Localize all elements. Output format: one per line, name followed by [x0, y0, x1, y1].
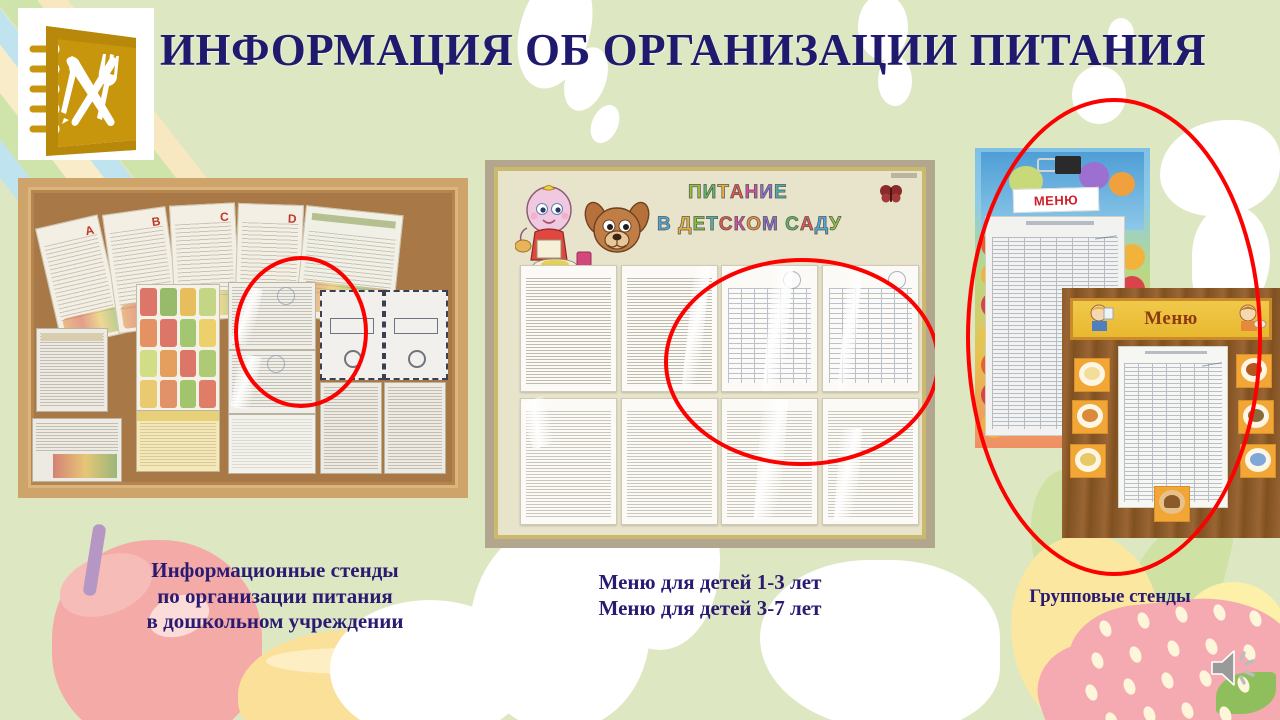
cartoon-dog-icon [583, 196, 653, 272]
caption-line: по организации питания [60, 584, 490, 610]
table-document [384, 382, 446, 474]
certificate-document [384, 290, 448, 380]
document-header [41, 333, 103, 341]
stand-title-line2: В ДЕТСКОМ САДУ [657, 214, 842, 236]
stand-document [520, 265, 617, 392]
food-cell [160, 319, 177, 347]
board-corner-label [891, 173, 917, 178]
dish-food [1250, 453, 1266, 466]
photo-menu-stand[interactable]: ПИТАНИЕ В ДЕТСКОМ САДУ [485, 160, 935, 548]
food-cell [140, 350, 157, 378]
document-text-lines [40, 333, 104, 407]
food-cell [180, 288, 197, 316]
info-document [36, 328, 108, 412]
food-cell [199, 319, 216, 347]
food-cell [140, 288, 157, 316]
red-highlight-ellipse [234, 256, 368, 408]
notice-document [228, 414, 316, 474]
document-text-lines [388, 387, 442, 469]
caption-line: Меню для детей 1-3 лет [500, 570, 920, 596]
useful-products-poster [136, 410, 220, 472]
food-cell [199, 380, 216, 408]
food-cell [160, 380, 177, 408]
caption-line: Меню для детей 3-7 лет [500, 596, 920, 622]
caption-line: в дошкольном учреждении [60, 609, 490, 635]
food-chart-grid [140, 288, 216, 408]
food-cell [160, 350, 177, 378]
stand-document [520, 398, 617, 525]
red-highlight-ellipse-group-stands [966, 98, 1262, 576]
speaker-audio-icon[interactable] [1208, 645, 1260, 691]
recipe-book-cutlery-icon [18, 8, 154, 160]
document-photo [53, 454, 117, 478]
food-chart-poster [136, 284, 220, 412]
food-cell [160, 288, 177, 316]
food-cell [180, 350, 197, 378]
poster-text-lines [140, 423, 216, 467]
photo-info-stands[interactable]: A B C D [18, 178, 468, 498]
seal-icon [408, 350, 426, 368]
document-text-lines [36, 423, 118, 453]
page-title: ИНФОРМАЦИЯ ОБ ОРГАНИЗАЦИИ ПИТАНИЯ [160, 24, 1270, 76]
butterfly-icon [879, 184, 903, 204]
document-text-lines [232, 419, 312, 469]
food-cell [180, 319, 197, 347]
caption-line: Информационные стенды [60, 558, 490, 584]
presentation-slide: ИНФОРМАЦИЯ ОБ ОРГАНИЗАЦИИ ПИТАНИЯ A B C … [0, 0, 1280, 720]
food-card [1240, 444, 1276, 478]
caption-line: Групповые стенды [960, 585, 1260, 608]
food-cell [140, 380, 157, 408]
plastic-glare [518, 396, 558, 450]
milk-splash-decoration [585, 100, 625, 147]
stand-title-line1: ПИТАНИЕ [688, 182, 788, 204]
poster-title-bar [137, 411, 219, 421]
food-cell [199, 350, 216, 378]
certificate-band [394, 318, 438, 334]
food-cell [199, 288, 216, 316]
food-cell [140, 319, 157, 347]
food-cell [180, 380, 197, 408]
info-document [32, 418, 122, 482]
caption-info-stands: Информационные стенды по организации пит… [60, 558, 490, 635]
caption-menus: Меню для детей 1-3 лет Меню для детей 3-… [500, 570, 920, 621]
recipe-book-logo [18, 8, 154, 160]
document-text-lines [526, 278, 611, 385]
red-highlight-ellipse [664, 258, 935, 466]
poster-title-bar [312, 213, 396, 229]
caption-group-stands: Групповые стенды [960, 585, 1260, 608]
